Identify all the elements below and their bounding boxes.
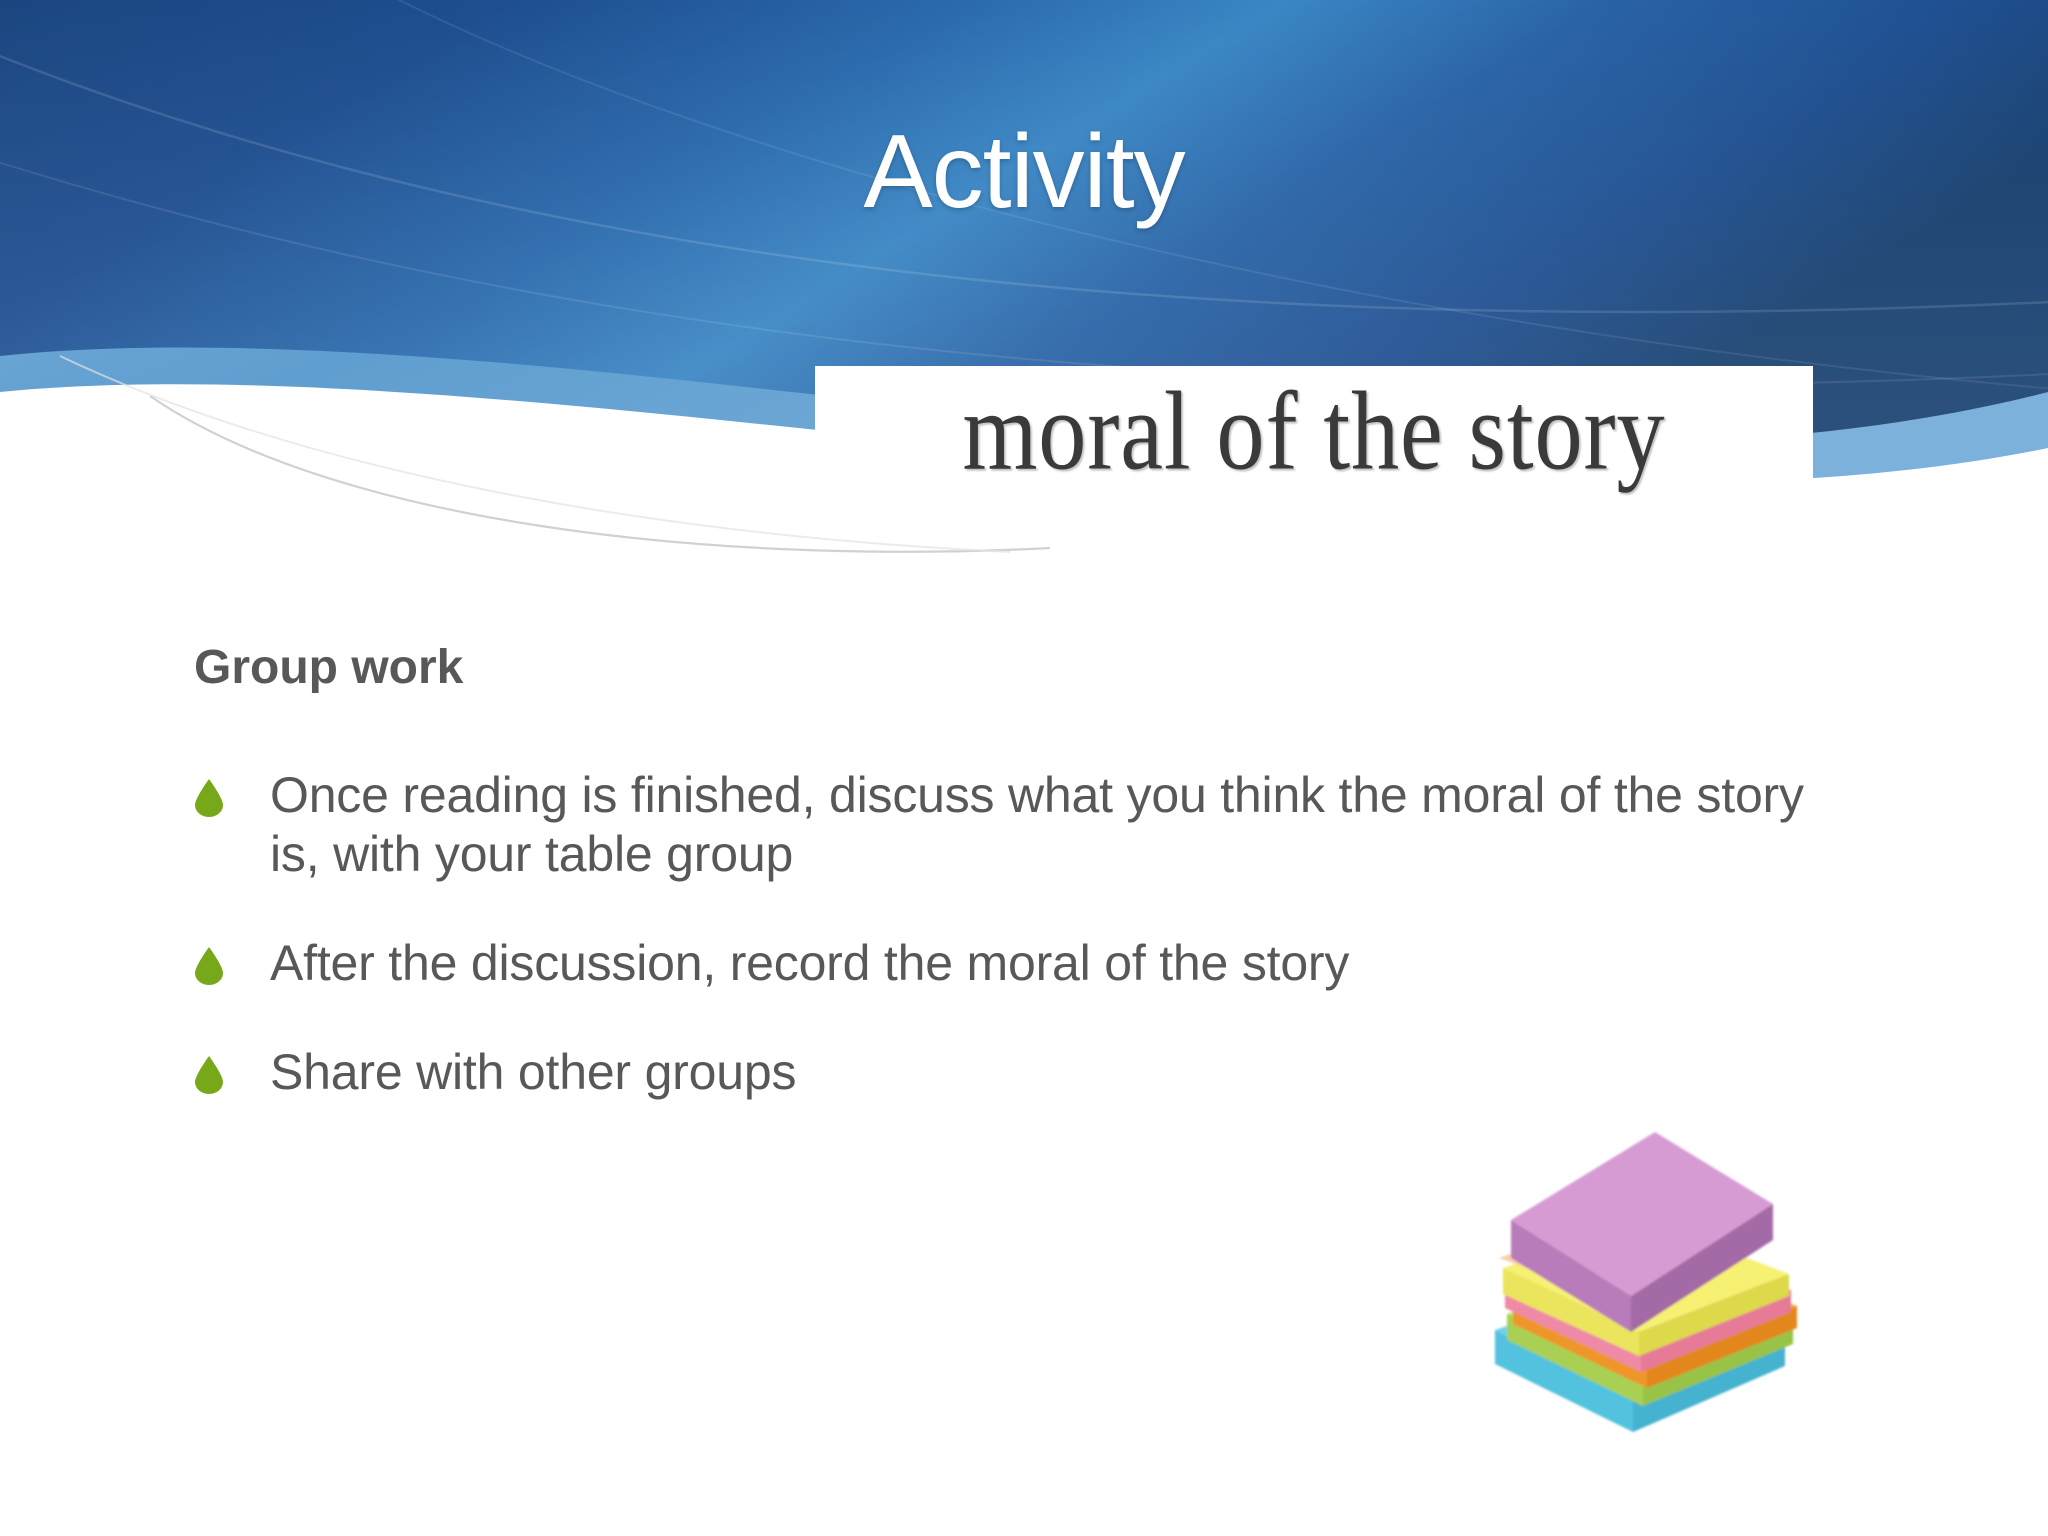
teardrop-bullet-icon [194, 1056, 224, 1094]
activity-bullet-list: Once reading is finished, discuss what y… [190, 766, 1810, 1102]
list-item-text: Share with other groups [270, 1044, 796, 1100]
teardrop-bullet-icon [194, 947, 224, 985]
list-item-text: After the discussion, record the moral o… [270, 935, 1349, 991]
slide-body: Group work Once reading is finished, dis… [0, 620, 2048, 1520]
presentation-slide: Activity moral of the story Group work O… [0, 0, 2048, 1536]
list-item-text: Once reading is finished, discuss what y… [270, 767, 1804, 882]
page-title: Activity [0, 118, 2048, 227]
moral-of-the-story-text: moral of the story [963, 367, 1666, 496]
moral-of-the-story-image: moral of the story [815, 366, 1813, 497]
teardrop-bullet-icon [194, 779, 224, 817]
list-item: After the discussion, record the moral o… [190, 934, 1810, 993]
group-work-heading: Group work [194, 640, 463, 695]
list-item: Share with other groups [190, 1043, 1810, 1102]
list-item: Once reading is finished, discuss what y… [190, 766, 1810, 884]
